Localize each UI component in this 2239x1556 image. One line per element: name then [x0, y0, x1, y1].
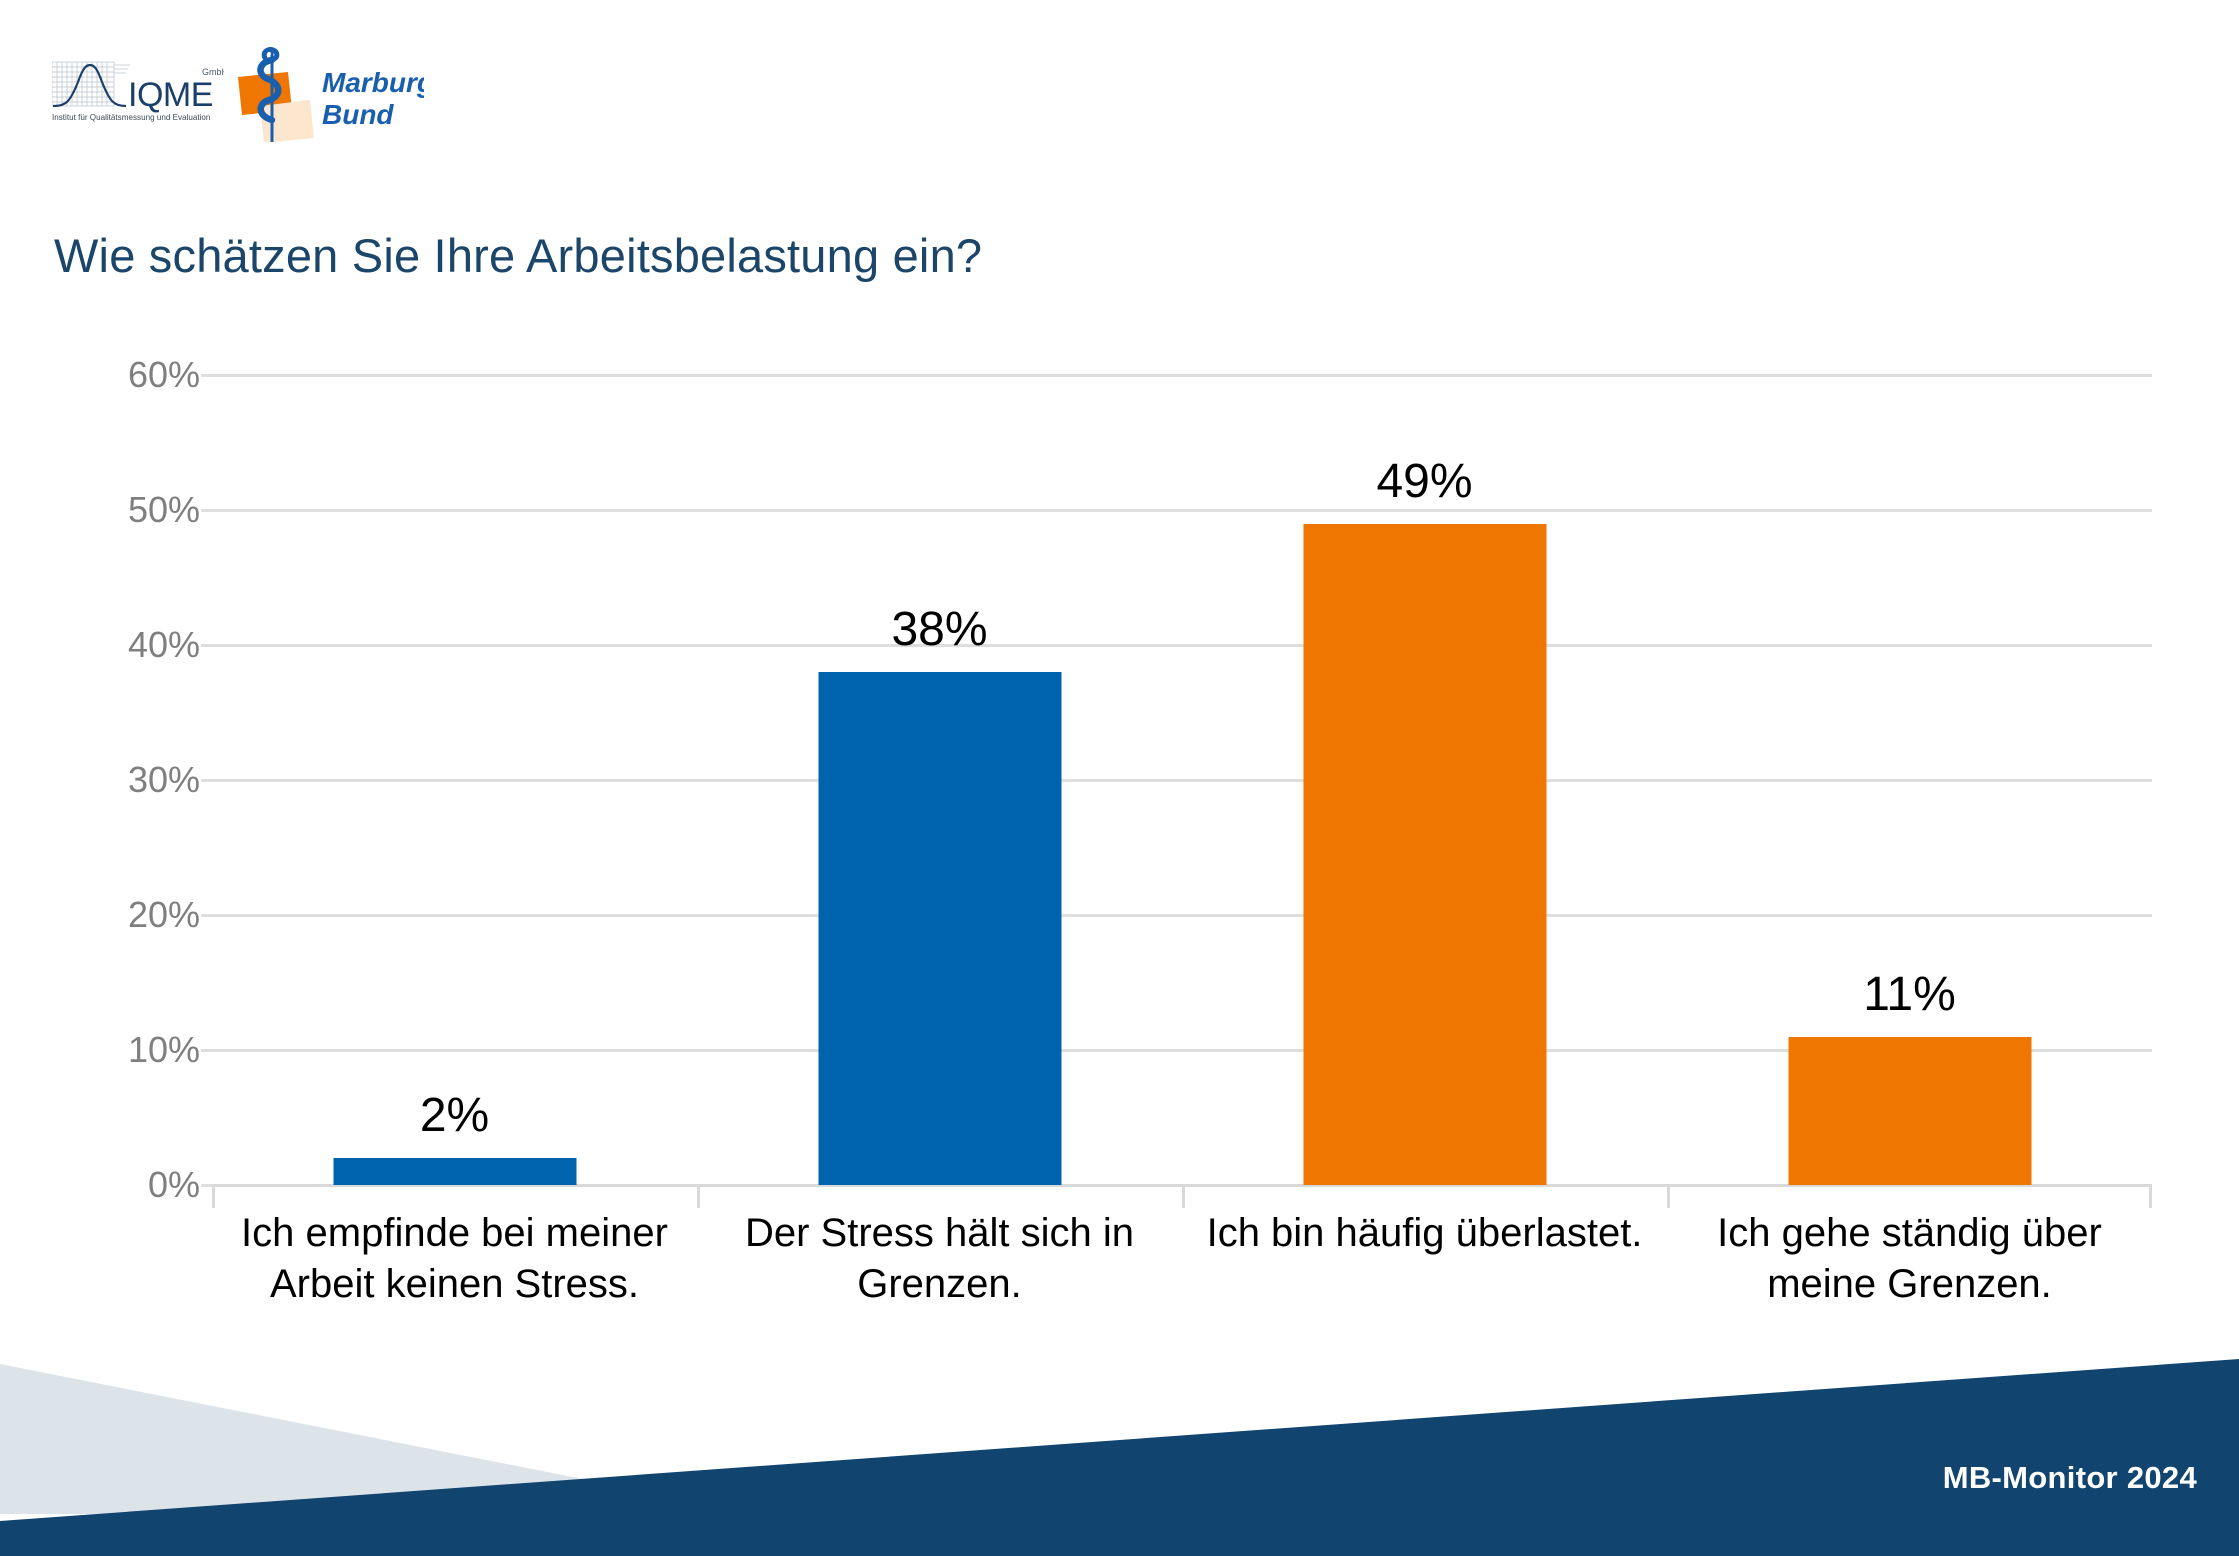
svg-text:Marburger: Marburger: [322, 67, 424, 98]
bar-value-label: 11%: [1863, 967, 1956, 1022]
svg-text:IQME: IQME: [128, 76, 213, 114]
x-axis-tick-mark: [1182, 1184, 1185, 1208]
y-axis-tick-label: 40%: [128, 624, 200, 666]
y-axis-tick-mark: [201, 1049, 212, 1052]
y-axis-tick-mark: [201, 374, 212, 377]
y-axis-tick-mark: [201, 644, 212, 647]
footer-label: MB-Monitor 2024: [1943, 1460, 2197, 1496]
x-axis-tick-mark: [697, 1184, 700, 1208]
x-axis-category-label: Ich gehe ständig über meine Grenzen.: [1690, 1208, 2130, 1310]
bar[interactable]: [818, 672, 1061, 1185]
bar[interactable]: [333, 1158, 576, 1185]
svg-text:Institut für Qualitätsmessung: Institut für Qualitätsmessung und Evalua…: [52, 113, 210, 122]
iqme-logo: IQME GmbH Institut für Qualitätsmessung …: [52, 56, 224, 126]
x-axis-tick-mark: [2149, 1184, 2152, 1208]
svg-text:GmbH: GmbH: [202, 67, 224, 77]
y-axis-tick-mark: [201, 914, 212, 917]
y-axis-tick-label: 50%: [128, 489, 200, 531]
y-axis-tick-label: 0%: [148, 1164, 200, 1206]
marburger-bund-logo-graphic: Marburger Bund: [232, 42, 424, 142]
bar[interactable]: [1303, 524, 1546, 1186]
x-axis-tick-mark: [1667, 1184, 1670, 1208]
bar[interactable]: [1788, 1037, 2031, 1186]
y-axis-tick-label: 20%: [128, 894, 200, 936]
y-axis-tick-mark: [201, 509, 212, 512]
footer-decoration: [0, 1326, 2239, 1556]
page-title: Wie schätzen Sie Ihre Arbeitsbelastung e…: [54, 228, 982, 283]
y-axis: 0%10%20%30%40%50%60%: [80, 330, 200, 1185]
bar-chart: 0%10%20%30%40%50%60% 2%38%49%11% Ich emp…: [0, 330, 2239, 1390]
bar-group: 49%: [1182, 375, 1667, 1185]
bar-value-label: 2%: [420, 1088, 489, 1143]
bar-group: 2%: [212, 375, 697, 1185]
y-axis-tick-label: 10%: [128, 1029, 200, 1071]
bar-series: 2%38%49%11%: [212, 375, 2152, 1185]
bar-value-label: 49%: [1376, 454, 1472, 509]
bar-group: 11%: [1667, 375, 2152, 1185]
x-axis-category-label: Ich bin häufig überlastet.: [1205, 1208, 1645, 1259]
svg-text:Bund: Bund: [322, 99, 394, 130]
y-axis-tick-mark: [201, 1184, 212, 1187]
logo-bar: IQME GmbH Institut für Qualitätsmessung …: [0, 0, 2239, 150]
y-axis-tick-label: 30%: [128, 759, 200, 801]
marburger-bund-logo: Marburger Bund: [232, 42, 424, 142]
iqme-logo-graphic: IQME GmbH Institut für Qualitätsmessung …: [52, 56, 224, 126]
x-axis-category-label: Der Stress hält sich in Grenzen.: [720, 1208, 1160, 1310]
bar-value-label: 38%: [891, 602, 987, 657]
x-axis-category-label: Ich empfinde bei meiner Arbeit keinen St…: [235, 1208, 675, 1310]
y-axis-tick-label: 60%: [128, 354, 200, 396]
x-axis-tick-mark: [212, 1184, 215, 1208]
y-axis-tick-mark: [201, 779, 212, 782]
footer: MB-Monitor 2024: [0, 1326, 2239, 1556]
bar-group: 38%: [697, 375, 1182, 1185]
